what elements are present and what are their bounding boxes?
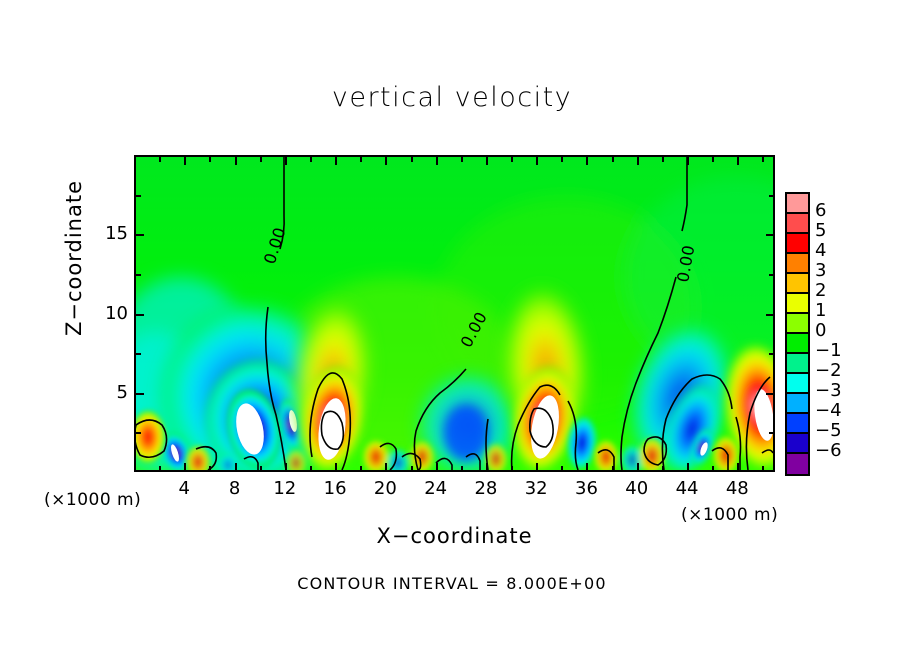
colorbar-tick-label: 1	[815, 300, 826, 321]
x-tick-minor	[260, 466, 262, 472]
colorbar-tick-label: −6	[815, 440, 842, 461]
colorbar-swatch	[787, 214, 808, 234]
x-tick-major-top	[235, 156, 237, 165]
y-unit-label: (×1000 m)	[44, 490, 141, 510]
x-tick-label: 12	[265, 478, 305, 499]
x-unit-label: (×1000 m)	[681, 505, 778, 525]
y-tick-minor	[135, 432, 141, 434]
colorbar-swatch	[787, 334, 808, 354]
contour-interval-caption: CONTOUR INTERVAL = 8.000E+00	[0, 574, 904, 593]
x-tick-minor	[159, 466, 161, 472]
colorbar-swatch	[787, 454, 808, 474]
x-tick-minor	[511, 466, 513, 472]
x-tick-minor-top	[762, 156, 764, 162]
x-tick-minor	[712, 466, 714, 472]
x-axis-title: X−coordinate	[134, 524, 775, 548]
x-tick-major-top	[637, 156, 639, 165]
x-tick-major	[687, 463, 689, 472]
y-tick-major	[135, 314, 144, 316]
colorbar-tick-label: 6	[815, 200, 826, 221]
x-tick-minor	[209, 466, 211, 472]
x-tick-major-top	[486, 156, 488, 165]
x-tick-major	[385, 463, 387, 472]
x-tick-major	[184, 463, 186, 472]
x-tick-minor-top	[209, 156, 211, 162]
x-tick-minor-top	[461, 156, 463, 162]
colorbar-swatch	[787, 294, 808, 314]
x-tick-major-top	[586, 156, 588, 165]
y-tick-major	[135, 234, 144, 236]
x-tick-major-top	[285, 156, 287, 165]
x-tick-label: 20	[365, 478, 405, 499]
x-tick-major-top	[536, 156, 538, 165]
colorbar-tick-label: −1	[815, 340, 842, 361]
y-tick-minor	[135, 353, 141, 355]
y-tick-major-right	[766, 314, 775, 316]
colorbar-swatch	[787, 354, 808, 374]
x-tick-minor	[612, 466, 614, 472]
x-tick-minor	[461, 466, 463, 472]
x-tick-minor	[310, 466, 312, 472]
colorbar-tick-label: −2	[815, 360, 842, 381]
y-tick-major-right	[766, 393, 775, 395]
y-tick-label: 15	[98, 223, 128, 244]
x-tick-minor-top	[360, 156, 362, 162]
colorbar-tick-label: 5	[815, 220, 826, 241]
colorbar-tick-label: −5	[815, 420, 842, 441]
x-tick-minor-top	[159, 156, 161, 162]
x-tick-major-top	[436, 156, 438, 165]
colorbar-swatch	[787, 234, 808, 254]
x-tick-minor-top	[561, 156, 563, 162]
x-tick-minor-top	[612, 156, 614, 162]
y-tick-minor-right	[769, 195, 775, 197]
x-tick-label: 48	[717, 478, 757, 499]
y-tick-major	[135, 393, 144, 395]
x-tick-major	[335, 463, 337, 472]
x-tick-major	[586, 463, 588, 472]
y-tick-minor	[135, 195, 141, 197]
colorbar-swatch	[787, 314, 808, 334]
x-tick-minor-top	[712, 156, 714, 162]
x-tick-major-top	[385, 156, 387, 165]
x-tick-major	[436, 463, 438, 472]
x-tick-minor-top	[260, 156, 262, 162]
x-tick-major	[486, 463, 488, 472]
x-tick-major	[235, 463, 237, 472]
x-tick-major-top	[737, 156, 739, 165]
x-tick-major-top	[335, 156, 337, 165]
colorbar-tick-label: 3	[815, 260, 826, 281]
colorbar-tick-label: −4	[815, 400, 842, 421]
colorbar-swatch	[787, 374, 808, 394]
colorbar-swatch	[787, 194, 808, 214]
y-tick-minor-right	[769, 353, 775, 355]
x-tick-label: 36	[566, 478, 606, 499]
x-tick-label: 16	[315, 478, 355, 499]
x-tick-minor-top	[310, 156, 312, 162]
x-tick-minor	[411, 466, 413, 472]
colorbar-tick-label: −3	[815, 380, 842, 401]
x-tick-major-top	[184, 156, 186, 165]
y-tick-minor-right	[769, 274, 775, 276]
x-tick-major	[536, 463, 538, 472]
x-tick-major	[637, 463, 639, 472]
x-tick-minor-top	[511, 156, 513, 162]
page-title: vertical velocity	[0, 82, 904, 113]
x-tick-label: 44	[667, 478, 707, 499]
x-tick-minor	[762, 466, 764, 472]
figure-canvas: vertical velocity	[0, 0, 904, 654]
colorbar[interactable]	[785, 192, 810, 476]
x-tick-label: 32	[516, 478, 556, 499]
colorbar-swatch	[787, 434, 808, 454]
x-tick-label: 4	[164, 478, 204, 499]
colorbar-swatch	[787, 394, 808, 414]
x-tick-label: 8	[215, 478, 255, 499]
y-tick-major-right	[766, 234, 775, 236]
x-tick-minor	[561, 466, 563, 472]
x-tick-minor-top	[411, 156, 413, 162]
contour-field	[136, 157, 773, 470]
x-tick-major	[737, 463, 739, 472]
x-tick-label: 40	[617, 478, 657, 499]
y-tick-minor	[135, 274, 141, 276]
colorbar-swatch	[787, 414, 808, 434]
contour-plot-area[interactable]	[134, 155, 775, 472]
x-tick-major	[285, 463, 287, 472]
x-tick-label: 24	[416, 478, 456, 499]
colorbar-swatch	[787, 274, 808, 294]
x-tick-minor	[662, 466, 664, 472]
colorbar-tick-label: 2	[815, 280, 826, 301]
colorbar-swatch	[787, 254, 808, 274]
y-tick-label: 10	[98, 303, 128, 324]
colorbar-tick-label: 0	[815, 320, 826, 341]
y-axis-title: Z−coordinate	[62, 148, 86, 368]
y-tick-label: 5	[98, 382, 128, 403]
x-tick-label: 28	[466, 478, 506, 499]
colorbar-tick-label: 4	[815, 240, 826, 261]
x-tick-minor-top	[662, 156, 664, 162]
x-tick-minor	[360, 466, 362, 472]
x-tick-major-top	[687, 156, 689, 165]
y-tick-minor-right	[769, 432, 775, 434]
